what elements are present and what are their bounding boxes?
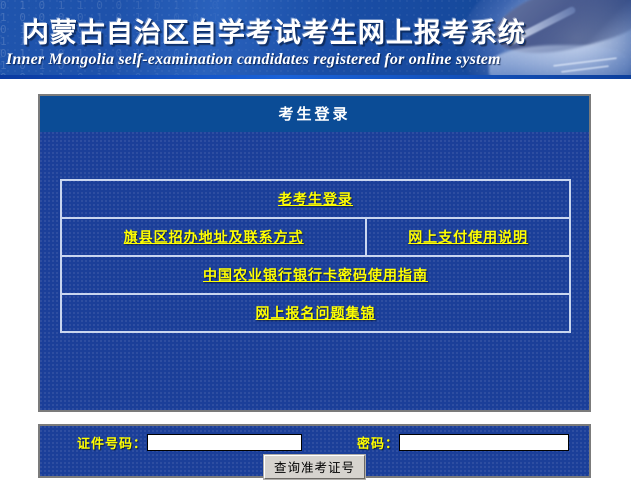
- login-panel: 考生登录 老考生登录 旗县区招办地址及联系方式 网上支付使用说明: [38, 94, 591, 412]
- photo-paper-line: [561, 65, 609, 73]
- banner-title-chinese: 内蒙古自治区自学考试考生网上报考系统: [22, 11, 526, 50]
- cell-online-registration-faq[interactable]: 网上报名问题集锦: [61, 294, 570, 332]
- table-row: 旗县区招办地址及联系方式 网上支付使用说明: [61, 218, 570, 256]
- table-row: 网上报名问题集锦: [61, 294, 570, 332]
- cell-county-office-contact[interactable]: 旗县区招办地址及联系方式: [61, 218, 366, 256]
- password-input[interactable]: [399, 434, 569, 451]
- table-row: 老考生登录: [61, 180, 570, 218]
- password-label: 密码：: [357, 433, 399, 452]
- table-row: 中国农业银行银行卡密码使用指南: [61, 256, 570, 294]
- site-banner: 0 1 0 1 1 0 0 1 0 1 1 0 1 0 0 0 0 1 0 1 …: [0, 0, 631, 79]
- banner-title-english: Inner Mongolia self-examination candidat…: [6, 51, 501, 69]
- link-online-payment-guide[interactable]: 网上支付使用说明: [408, 227, 528, 247]
- link-county-office-contact[interactable]: 旗县区招办地址及联系方式: [124, 227, 304, 247]
- link-table: 老考生登录 旗县区招办地址及联系方式 网上支付使用说明 中国农业银行银行: [60, 179, 571, 333]
- id-number-label: 证件号码：: [77, 433, 147, 452]
- page-title: 考生登录: [40, 96, 589, 132]
- cell-abc-bank-card-password-guide[interactable]: 中国农业银行银行卡密码使用指南: [61, 256, 570, 294]
- query-admission-ticket-button[interactable]: 查询准考证号: [264, 455, 365, 479]
- link-abc-bank-card-password-guide[interactable]: 中国农业银行银行卡密码使用指南: [203, 265, 428, 285]
- login-panel-body: 老考生登录 旗县区招办地址及联系方式 网上支付使用说明 中国农业银行银行: [40, 132, 589, 410]
- query-panel: 证件号码： 密码： 查询准考证号: [38, 424, 591, 478]
- photo-paper-shape: [489, 45, 629, 79]
- id-number-input[interactable]: [147, 434, 302, 451]
- page-body: 考生登录 老考生登录 旗县区招办地址及联系方式 网上支付使用说明: [0, 79, 631, 496]
- link-online-registration-faq[interactable]: 网上报名问题集锦: [256, 303, 376, 323]
- link-old-candidate-login[interactable]: 老考生登录: [278, 189, 353, 209]
- query-fields-row: 证件号码： 密码：: [40, 430, 589, 454]
- photo-paper-line: [553, 57, 617, 67]
- query-button-row: 查询准考证号: [40, 455, 589, 479]
- cell-old-candidate-login[interactable]: 老考生登录: [61, 180, 570, 218]
- cell-online-payment-guide[interactable]: 网上支付使用说明: [366, 218, 570, 256]
